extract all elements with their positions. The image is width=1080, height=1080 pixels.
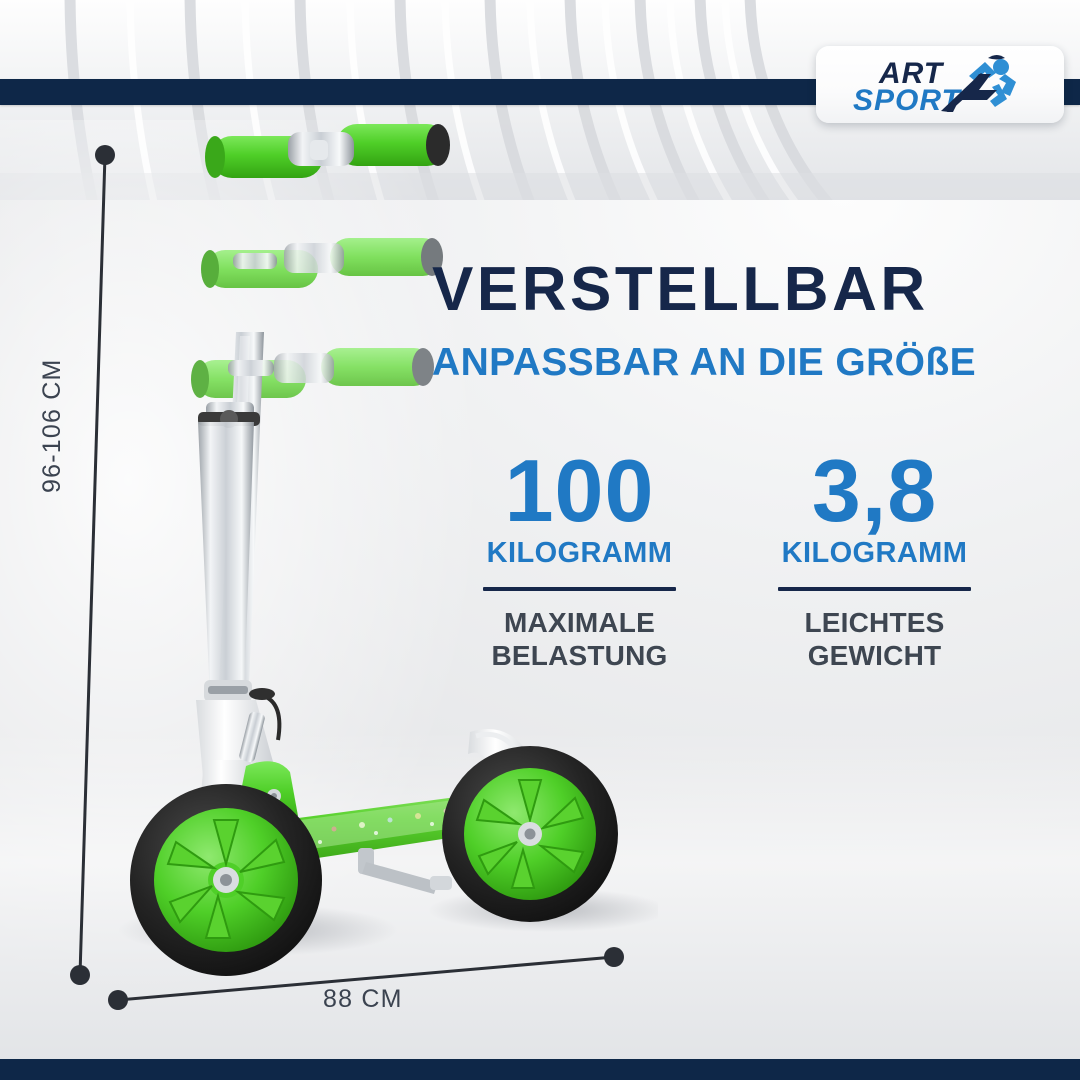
art-sport-logo: ART SPORT — [829, 54, 1051, 116]
handlebar-position-high — [205, 124, 450, 178]
page-subtitle: ANPASSBAR AN DIE GRÖßE — [432, 343, 1032, 384]
stat-label-line2: BELASTUNG — [438, 639, 721, 672]
stat-unit: KILOGRAMM — [733, 537, 1016, 570]
rear-wheel — [442, 746, 618, 922]
stat-label-line1: MAXIMALE — [438, 606, 721, 639]
footer-bar — [0, 1059, 1080, 1080]
stat-value: 100 — [438, 450, 721, 533]
stat-value: 3,8 — [733, 450, 1016, 533]
handlebar-position-low — [191, 348, 434, 398]
stat-unit: KILOGRAMM — [438, 537, 721, 570]
stat-label-line2: GEWICHT — [733, 639, 1016, 672]
page-title: VERSTELLBAR — [432, 258, 1032, 321]
stat-label-line1: LEICHTES — [733, 606, 1016, 639]
stat-max-load: 100 KILOGRAMM MAXIMALE BELASTUNG — [432, 450, 727, 672]
stat-label: LEICHTES GEWICHT — [733, 606, 1016, 672]
stats-row: 100 KILOGRAMM MAXIMALE BELASTUNG 3,8 KIL… — [432, 450, 1022, 672]
stat-divider — [778, 587, 971, 591]
brand-logo-badge: ART SPORT — [816, 46, 1064, 123]
content-column: VERSTELLBAR ANPASSBAR AN DIE GRÖßE 100 K… — [432, 258, 1032, 672]
stat-divider — [483, 587, 676, 591]
stat-label: MAXIMALE BELASTUNG — [438, 606, 721, 672]
front-wheel — [130, 784, 322, 976]
product-infographic: ART SPORT — [0, 0, 1080, 1080]
stat-weight: 3,8 KILOGRAMM LEICHTES GEWICHT — [727, 450, 1022, 672]
kickstand — [358, 848, 452, 894]
